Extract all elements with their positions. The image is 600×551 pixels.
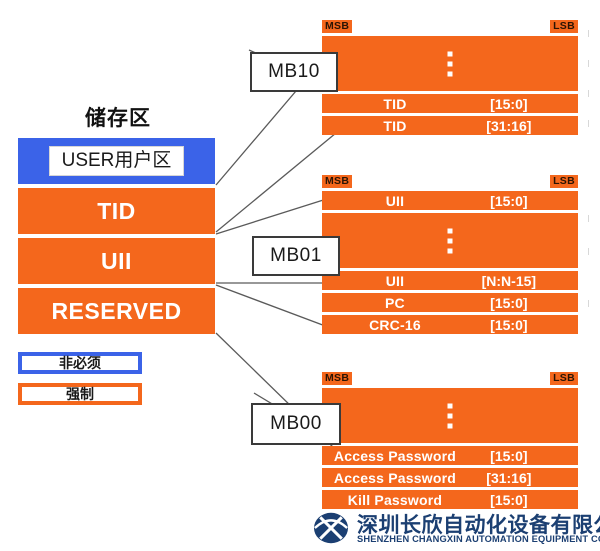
- vertical-ellipsis-icon: [448, 403, 453, 428]
- edge-tick: [588, 248, 589, 255]
- memory-block-user-label: USER用户区: [49, 146, 185, 176]
- field-name: TID: [322, 96, 468, 112]
- bank-mb10-endlabels: MSB LSB: [322, 20, 578, 35]
- bank-mb10-rows: TID [15:0] TID [31:16]: [322, 36, 578, 135]
- edge-tick: [588, 90, 589, 97]
- legend-optional: 非必须: [18, 352, 142, 374]
- edge-tick: [588, 60, 589, 67]
- watermark: 深圳长欣自动化设备有限公司 SHENZHEN CHANGXIN AUTOMATI…: [313, 509, 595, 549]
- bank-mb10-row-ellipsis: [322, 36, 578, 91]
- connector-uii-to-mb01-top: [216, 196, 336, 234]
- bank-mb00-rows: Access Password [15:0] Access Password […: [322, 388, 578, 509]
- bank-mb01-row-uii-low[interactable]: UII [15:0]: [322, 191, 578, 210]
- memory-map: USER用户区 TID UII RESERVED: [18, 138, 215, 338]
- field-name: Access Password: [322, 448, 468, 464]
- lsb-label: LSB: [550, 20, 578, 33]
- edge-tick: [588, 215, 589, 222]
- field-name: PC: [322, 295, 468, 311]
- field-range: [N:N-15]: [468, 273, 550, 289]
- bank-mb01-row-uii-high[interactable]: UII [N:N-15]: [322, 271, 578, 290]
- vertical-ellipsis-icon: [448, 228, 453, 253]
- bank-mb10-row-tid-high[interactable]: TID [31:16]: [322, 116, 578, 135]
- callout-mb10[interactable]: MB10: [250, 52, 338, 92]
- field-range: [15:0]: [468, 317, 550, 333]
- bank-mb00-row-ellipsis: [322, 388, 578, 443]
- legend: 非必须 强制: [18, 352, 142, 414]
- diagram-canvas: 储存区 USER用户区 TID UII RESERVED 非必须 强制 MSB …: [0, 0, 600, 551]
- vertical-ellipsis-icon: [448, 51, 453, 76]
- bank-mb01-row-crc16[interactable]: CRC-16 [15:0]: [322, 315, 578, 334]
- memory-block-uii[interactable]: UII: [18, 238, 215, 284]
- field-name: UII: [322, 193, 468, 209]
- field-range: [31:16]: [468, 118, 550, 134]
- bank-mb01-endlabels: MSB LSB: [322, 175, 578, 190]
- msb-label: MSB: [322, 20, 352, 33]
- field-name: TID: [322, 118, 468, 134]
- legend-mandatory: 强制: [18, 383, 142, 405]
- field-name: Kill Password: [322, 492, 468, 508]
- bank-mb00-endlabels: MSB LSB: [322, 372, 578, 387]
- field-range: [15:0]: [468, 448, 550, 464]
- callout-mb00[interactable]: MB00: [251, 403, 341, 445]
- lsb-label: LSB: [550, 372, 578, 385]
- bank-mb00-row-access-low[interactable]: Access Password [15:0]: [322, 446, 578, 465]
- bank-mb00: MSB LSB Access Password [15:0] Access Pa…: [322, 372, 578, 512]
- field-range: [15:0]: [468, 295, 550, 311]
- field-name: CRC-16: [322, 317, 468, 333]
- callout-mb01[interactable]: MB01: [252, 236, 340, 276]
- memory-block-reserved[interactable]: RESERVED: [18, 288, 215, 334]
- edge-tick: [588, 300, 589, 307]
- field-name: UII: [322, 273, 468, 289]
- bank-mb00-row-access-high[interactable]: Access Password [31:16]: [322, 468, 578, 487]
- field-range: [15:0]: [468, 193, 550, 209]
- edge-tick: [588, 30, 589, 37]
- field-name: Access Password: [322, 470, 468, 486]
- company-logo-icon: [313, 511, 349, 545]
- connector-reserved-to-mb01: [216, 285, 336, 330]
- field-range: [31:16]: [468, 470, 550, 486]
- bank-mb01: MSB LSB UII [15:0] UII [N:N-15] PC [15:0…: [322, 175, 578, 337]
- page-title: 储存区: [18, 102, 218, 132]
- field-range: [15:0]: [468, 492, 550, 508]
- lsb-label: LSB: [550, 175, 578, 188]
- bank-mb10: MSB LSB TID [15:0] TID [31:16]: [322, 20, 578, 138]
- msb-label: MSB: [322, 175, 352, 188]
- bank-mb10-row-tid-low[interactable]: TID [15:0]: [322, 94, 578, 113]
- connector-tid-to-mb10: [216, 133, 336, 232]
- memory-block-tid[interactable]: TID: [18, 188, 215, 234]
- bank-mb00-row-kill[interactable]: Kill Password [15:0]: [322, 490, 578, 509]
- bank-mb01-row-ellipsis: [322, 213, 578, 268]
- msb-label: MSB: [322, 372, 352, 385]
- bank-mb01-rows: UII [15:0] UII [N:N-15] PC [15:0] CRC-16…: [322, 191, 578, 334]
- watermark-english: SHENZHEN CHANGXIN AUTOMATION EQUIPMENT C…: [357, 534, 600, 544]
- edge-tick: [588, 120, 589, 127]
- memory-block-user[interactable]: USER用户区: [18, 138, 215, 184]
- field-range: [15:0]: [468, 96, 550, 112]
- bank-mb01-row-pc[interactable]: PC [15:0]: [322, 293, 578, 312]
